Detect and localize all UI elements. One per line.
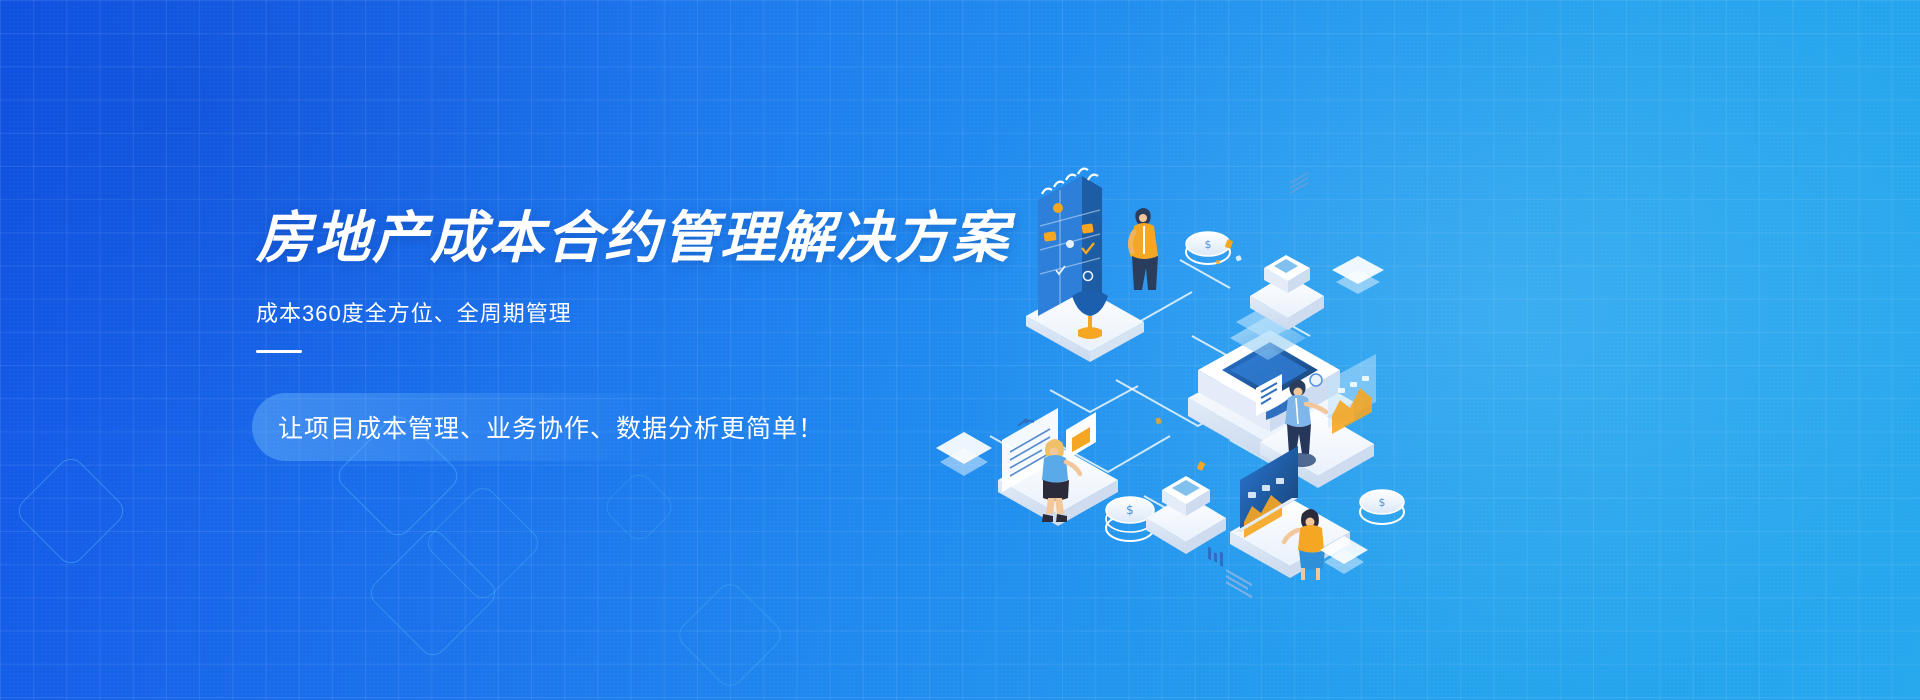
platform-server <box>1188 172 1354 599</box>
coin-stack-bottom: $ <box>1106 497 1154 541</box>
hero-subtitle: 成本360度全方位、全周期管理 <box>256 296 1016 328</box>
decorative-diamond-5 <box>673 578 786 691</box>
title-divider <box>256 350 302 353</box>
decorative-diamond-1 <box>13 453 129 569</box>
hero-tagline-pill: 让项目成本管理、业务协作、数据分析更简单！ <box>252 393 850 461</box>
trophy <box>1072 290 1108 339</box>
floating-sheet-bottom <box>1320 536 1368 574</box>
svg-text:$: $ <box>1205 238 1212 251</box>
hero-title: 房地产成本合约管理解决方案 <box>256 208 1016 268</box>
cube-node-top-right <box>1250 255 1324 330</box>
platform-document-woman <box>998 408 1118 526</box>
calendar-board <box>1038 169 1102 316</box>
connector-lines <box>990 260 1350 526</box>
coin-stack-right: $ <box>1360 490 1404 524</box>
platform-chart-man <box>1256 354 1376 488</box>
hero-banner: 房地产成本合约管理解决方案 成本360度全方位、全周期管理 让项目成本管理、业务… <box>0 0 1920 700</box>
coin-stack-top: $ <box>1186 232 1230 264</box>
confetti <box>1155 239 1242 471</box>
hero-copy: 房地产成本合约管理解决方案 成本360度全方位、全周期管理 让项目成本管理、业务… <box>256 208 1016 461</box>
floating-card-right <box>1066 412 1096 460</box>
platform-calendar <box>1026 286 1144 362</box>
decorative-diamond-6 <box>601 469 677 545</box>
hero-tagline: 让项目成本管理、业务协作、数据分析更简单！ <box>278 415 824 443</box>
cube-node-bottom <box>1146 476 1226 554</box>
floating-card-left <box>1256 374 1282 416</box>
person-man-phone <box>1130 208 1158 290</box>
svg-text:$: $ <box>1126 503 1134 517</box>
decorative-diamond-3 <box>422 482 544 604</box>
floating-sheet-right <box>1332 256 1384 294</box>
svg-text:$: $ <box>1379 496 1386 509</box>
decorative-diamond-4 <box>365 525 501 661</box>
platform-laptop-woman <box>1230 446 1350 580</box>
